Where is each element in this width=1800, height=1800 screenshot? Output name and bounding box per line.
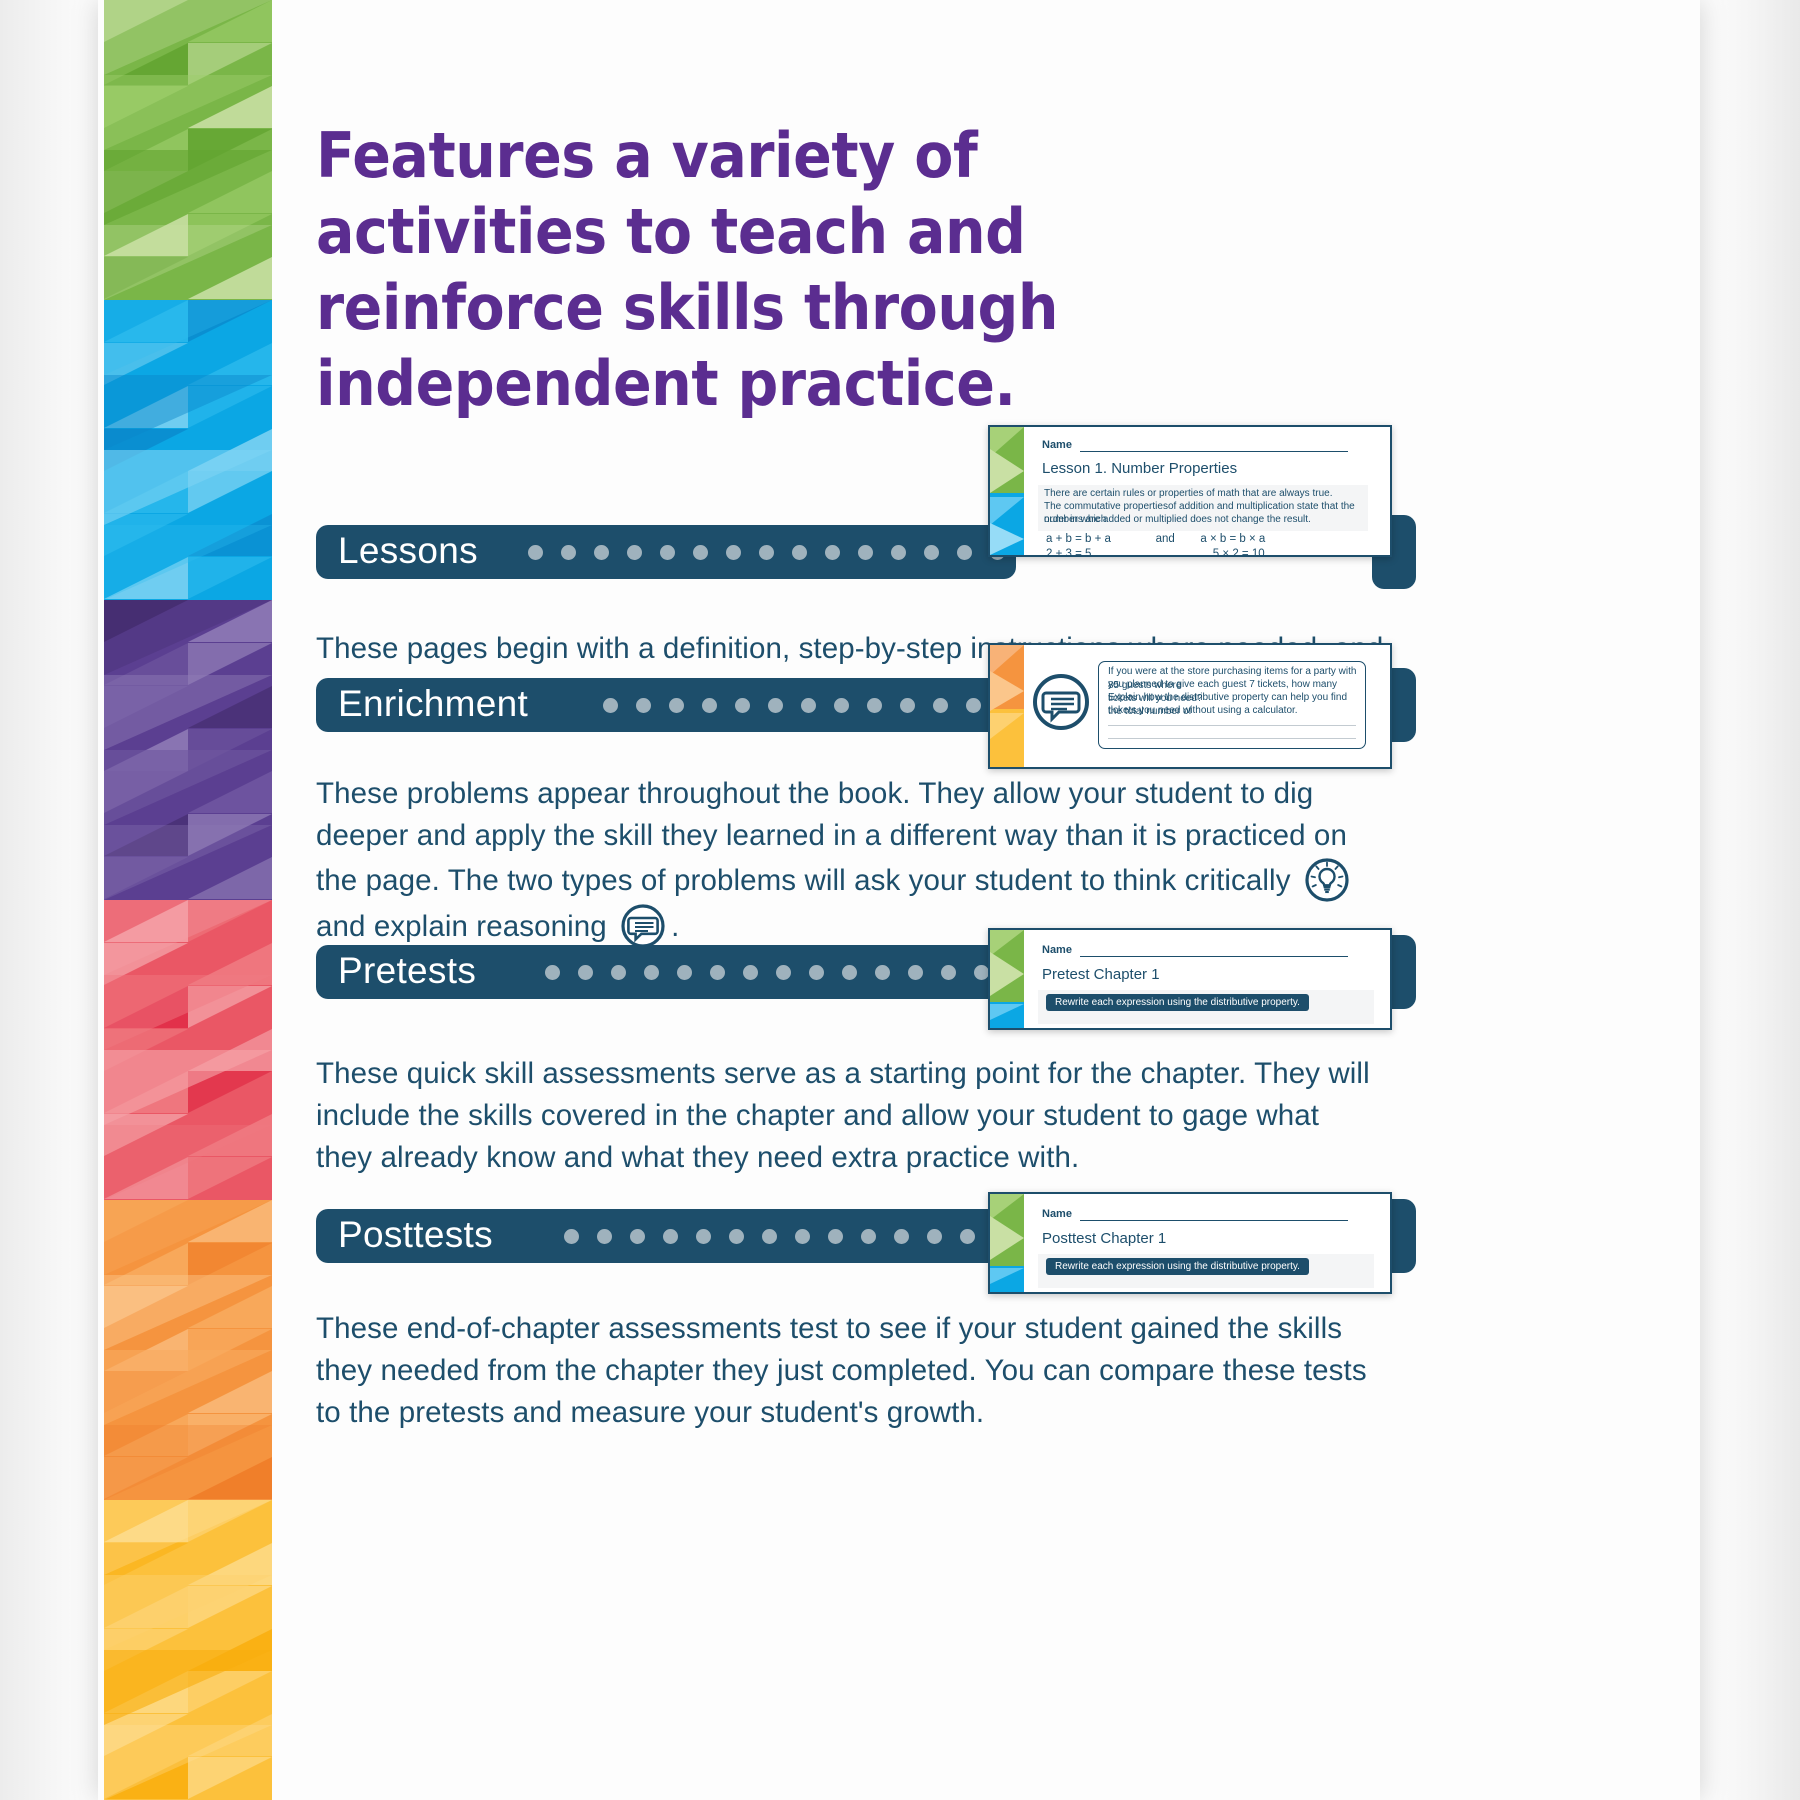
section-label-enrichment: Enrichment <box>338 683 528 725</box>
name-rule <box>1080 1220 1348 1221</box>
page-root: Features a variety of activities to teac… <box>0 0 1800 1800</box>
rail-shard <box>104 1200 272 1275</box>
rail-shard <box>104 1050 272 1125</box>
rail-shard <box>104 0 272 75</box>
rail-shard <box>104 225 272 300</box>
thumbnail-stripe-posttest <box>990 1194 1024 1292</box>
right-paper-gutter <box>1700 0 1800 1800</box>
rail-band-blue <box>104 300 272 600</box>
name-rule <box>1080 956 1348 957</box>
speech-bubble-icon <box>620 903 666 949</box>
rail-shard <box>104 375 272 450</box>
answer-rule-1 <box>1108 725 1356 726</box>
thumbnail-enrichment-content: If you were at the store purchasing item… <box>1024 645 1390 767</box>
rail-shard <box>104 825 272 900</box>
rail-shard <box>104 750 272 825</box>
rail-shard <box>104 975 272 1050</box>
speech-bubble-icon <box>1032 673 1090 731</box>
name-rule <box>1080 451 1348 452</box>
instruction-chip: Rewrite each expression using the distri… <box>1046 994 1309 1011</box>
dot-leader-pretests <box>545 964 1016 980</box>
name-label: Name <box>1042 1208 1072 1220</box>
rail-shard <box>104 75 272 150</box>
thumbnail-lesson[interactable]: Name Lesson 1. Number Properties There a… <box>988 425 1392 557</box>
rail-band-yellow <box>104 1500 272 1800</box>
paragraph-enrichment-part3: . <box>671 910 679 943</box>
section-bar-posttests[interactable]: Posttests <box>316 1209 1016 1263</box>
instruction-chip: Rewrite each expression using the distri… <box>1046 1258 1309 1275</box>
rail-shard <box>104 900 272 975</box>
paragraph-enrichment-part1: These problems appear throughout the boo… <box>316 777 1347 897</box>
rail-shard <box>104 1350 272 1425</box>
rail-shard <box>104 525 272 600</box>
thumbnail-stripe-pretest <box>990 930 1024 1028</box>
rail-shard <box>104 1650 272 1725</box>
section-bar-enrichment[interactable]: Enrichment <box>316 678 1016 732</box>
rail-band-orange <box>104 1200 272 1500</box>
definition-line-1: There are certain rules or properties of… <box>1044 487 1370 500</box>
rail-shard <box>104 1125 272 1200</box>
section-label-posttests: Posttests <box>338 1214 493 1256</box>
paragraph-enrichment: These problems appear throughout the boo… <box>316 773 1376 949</box>
worksheet-title: Lesson 1. Number Properties <box>1042 460 1237 477</box>
section-label-pretests: Pretests <box>338 950 476 992</box>
rail-shard <box>104 675 272 750</box>
dot-leader-enrichment <box>603 697 1016 713</box>
rail-band-green <box>104 0 272 300</box>
worksheet-title: Posttest Chapter 1 <box>1042 1230 1166 1247</box>
thumbnail-pretest[interactable]: Name Pretest Chapter 1 Rewrite each expr… <box>988 928 1392 1030</box>
enrichment-line-4: tickets you need without using a calcula… <box>1108 704 1358 718</box>
section-bar-pretests[interactable]: Pretests <box>316 945 1016 999</box>
thumbnail-pretest-content: Name Pretest Chapter 1 Rewrite each expr… <box>1024 930 1390 1028</box>
rail-band-red <box>104 900 272 1200</box>
section-bar-lessons[interactable]: Lessons <box>316 525 1016 579</box>
rail-shard <box>104 300 272 375</box>
answer-rule-2 <box>1108 738 1356 739</box>
definition-line-3: numbers are added or multiplied does not… <box>1044 513 1370 526</box>
rail-shard <box>104 450 272 525</box>
section-label-lessons: Lessons <box>338 530 478 572</box>
dot-leader-posttests <box>564 1228 1016 1244</box>
paragraph-pretests: These quick skill assessments serve as a… <box>316 1053 1376 1179</box>
left-paper-gutter <box>0 0 98 1800</box>
rail-shard <box>104 1500 272 1575</box>
rainbow-geometric-sidebar <box>104 0 272 1800</box>
rail-shard <box>104 150 272 225</box>
page-title: Features a variety of activities to teac… <box>316 118 1264 422</box>
thumbnail-stripe-enrichment <box>990 645 1024 767</box>
example-equation-row-1: a + b = b + a and a × b = b × a <box>1046 533 1265 545</box>
rail-shard <box>104 600 272 675</box>
rail-band-purple <box>104 600 272 900</box>
paragraph-enrichment-part2: and explain reasoning <box>316 910 607 943</box>
rail-shard <box>104 1275 272 1350</box>
name-label: Name <box>1042 944 1072 956</box>
rail-shard <box>104 1425 272 1500</box>
dot-leader-lessons <box>528 544 1016 560</box>
thumbnail-stripe-lesson <box>990 427 1024 555</box>
worksheet-title: Pretest Chapter 1 <box>1042 966 1160 983</box>
lightbulb-icon <box>1304 857 1350 903</box>
rail-shard <box>104 1725 272 1800</box>
name-label: Name <box>1042 439 1072 451</box>
thumbnail-posttest[interactable]: Name Posttest Chapter 1 Rewrite each exp… <box>988 1192 1392 1294</box>
thumbnail-lesson-content: Name Lesson 1. Number Properties There a… <box>1024 427 1390 555</box>
rail-shard <box>104 1575 272 1650</box>
thumbnail-enrichment[interactable]: If you were at the store purchasing item… <box>988 643 1392 769</box>
thumbnail-posttest-content: Name Posttest Chapter 1 Rewrite each exp… <box>1024 1194 1390 1292</box>
paragraph-posttests: These end-of-chapter assessments test to… <box>316 1308 1386 1434</box>
example-equation-row-2: 2 + 3 = 5 5 × 2 = 10 <box>1046 548 1265 557</box>
